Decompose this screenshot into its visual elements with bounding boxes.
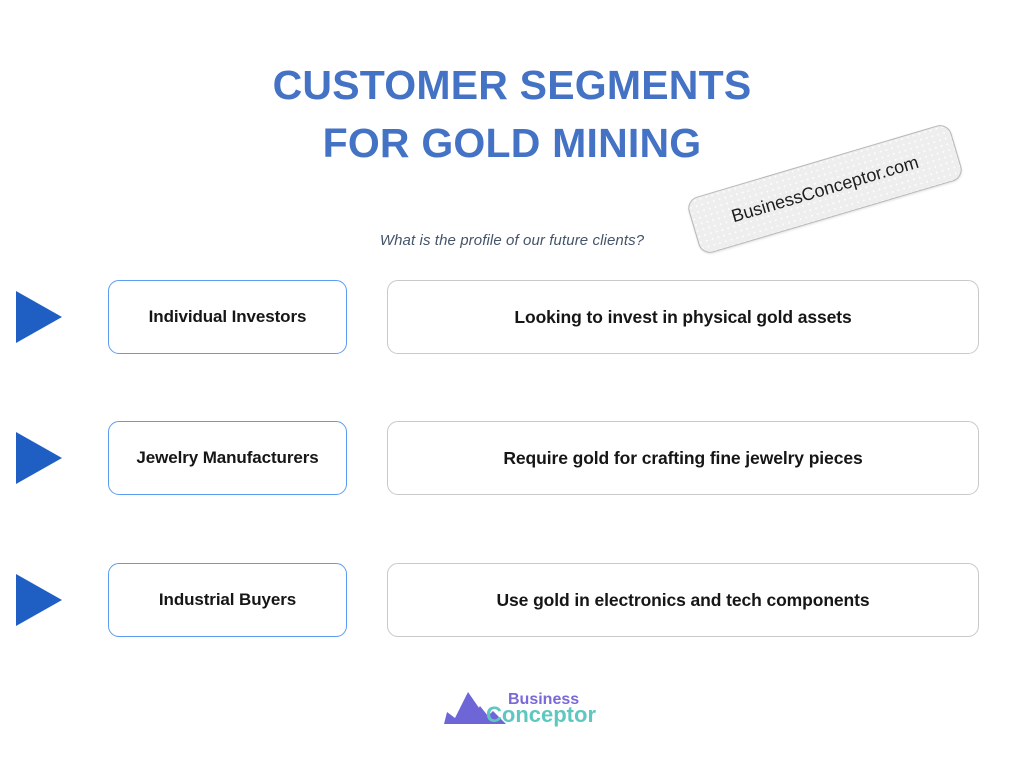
business-conceptor-logo: Business Conceptor (424, 684, 604, 734)
logo-word-conceptor: Conceptor (486, 702, 596, 727)
segment-label-box[interactable]: Industrial Buyers (108, 563, 347, 637)
segment-label-box[interactable]: Jewelry Manufacturers (108, 421, 347, 495)
segment-row: Industrial Buyers Use gold in electronic… (0, 563, 1024, 637)
segment-description-box[interactable]: Looking to invest in physical gold asset… (387, 280, 979, 354)
page-title-line-1: CUSTOMER SEGMENTS (0, 56, 1024, 114)
triangle-right-icon (16, 291, 62, 343)
segment-description-text: Use gold in electronics and tech compone… (485, 590, 882, 611)
segment-description-box[interactable]: Use gold in electronics and tech compone… (387, 563, 979, 637)
segment-description-box[interactable]: Require gold for crafting fine jewelry p… (387, 421, 979, 495)
segment-label-text: Individual Investors (141, 307, 315, 327)
segment-row: Jewelry Manufacturers Require gold for c… (0, 421, 1024, 495)
segment-description-text: Looking to invest in physical gold asset… (502, 307, 863, 328)
segment-row: Individual Investors Looking to invest i… (0, 280, 1024, 354)
page-subtitle: What is the profile of our future client… (0, 232, 1024, 249)
triangle-right-icon (16, 574, 62, 626)
segment-label-text: Industrial Buyers (151, 590, 304, 610)
triangle-right-icon (16, 432, 62, 484)
segment-description-text: Require gold for crafting fine jewelry p… (491, 448, 874, 469)
segment-label-box[interactable]: Individual Investors (108, 280, 347, 354)
segment-label-text: Jewelry Manufacturers (128, 448, 326, 468)
